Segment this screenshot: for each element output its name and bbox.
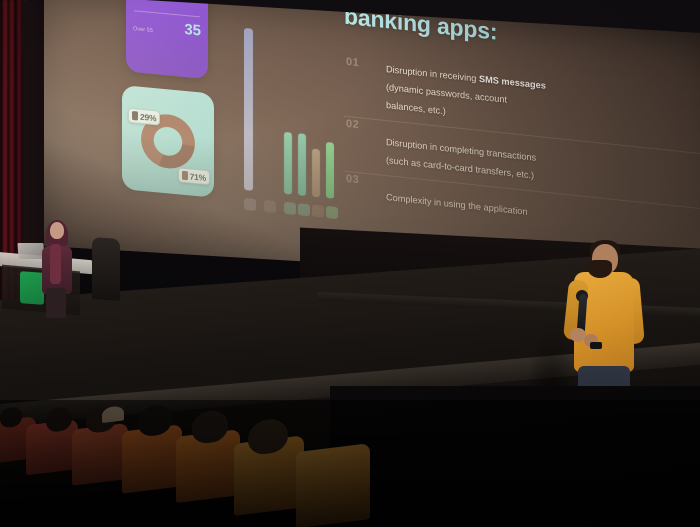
donut-label-b: 71% [178, 167, 210, 185]
list-item-text: Complexity in using the application [386, 192, 527, 217]
list-item-bold: SMS messages [479, 74, 546, 91]
bar-4 [326, 142, 334, 199]
list-item-number: 02 [346, 118, 359, 131]
list-item-text: Disruption in completing transactions (s… [386, 137, 536, 181]
slide-text-column: difficulties using mobile banking apps: … [344, 0, 700, 245]
mobile-icon [284, 202, 296, 215]
donut-value-b: 71% [190, 171, 206, 183]
kpi-row-value: 35 [184, 22, 201, 39]
check-icon [326, 206, 338, 219]
bar-1 [284, 132, 292, 195]
seat [296, 443, 370, 527]
list-item-lead: Complexity in using the application [386, 192, 527, 217]
kpi-card-participants: Total Participants 129 Over 55 35 [126, 0, 208, 79]
list-item-number: 01 [346, 56, 359, 69]
mobile-phone-icon [132, 111, 138, 121]
kpi-divider [134, 10, 200, 17]
mobile-icon [298, 203, 310, 216]
bar-3 [312, 149, 320, 198]
empty-chair [92, 237, 120, 301]
drop-icon [264, 200, 276, 213]
kpi-row-label: Over 55 [133, 26, 153, 34]
list-item-lead: Disruption in receiving [386, 64, 479, 84]
donut-label-a: 29% [128, 108, 160, 126]
attendee-head [50, 222, 64, 239]
list-item-rest: (dynamic passwords, account balances, et… [386, 82, 507, 116]
list-item-number: 03 [346, 173, 359, 186]
photo-scene: Total Participants 129 Over 55 35 29% [0, 0, 700, 527]
chart-icon [244, 198, 256, 211]
list-item-text: Disruption in receiving SMS messages (dy… [386, 64, 546, 116]
card-icon [312, 205, 324, 218]
donut-chart-card: 29% 71% [122, 85, 214, 198]
seated-attendee [38, 222, 82, 318]
bar-chart [240, 22, 350, 223]
donut-value-a: 29% [140, 111, 156, 123]
wristwatch [590, 342, 602, 349]
bar-0 [244, 28, 253, 191]
mobile-phone-icon [182, 171, 188, 181]
slide-list: 01 Disruption in receiving SMS messages … [344, 55, 700, 246]
attendee-legs [46, 288, 66, 318]
bar-2 [298, 133, 306, 196]
scarf-drape [50, 244, 61, 284]
speaker-beard [588, 260, 612, 278]
